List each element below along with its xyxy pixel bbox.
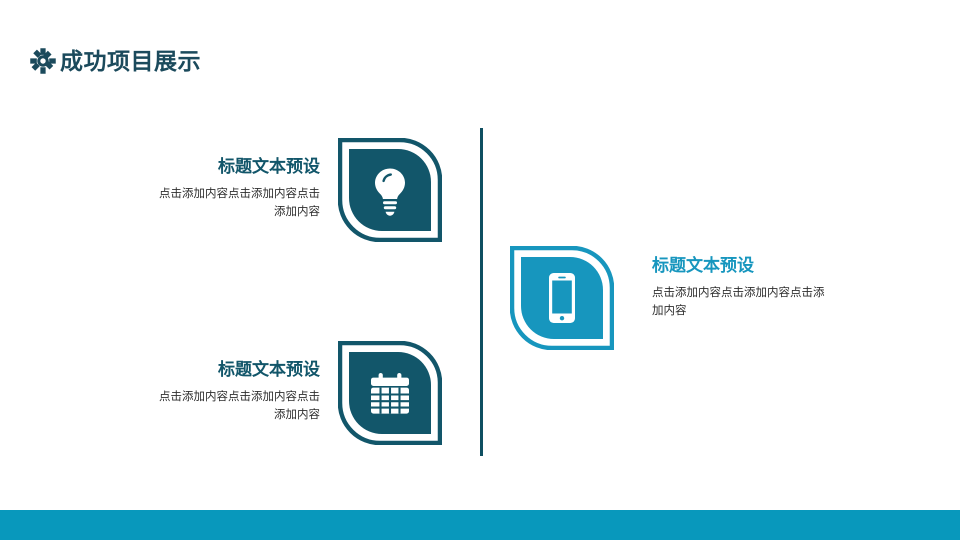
block-body: 点击添加内容点击添加内容点击添加内容: [150, 186, 320, 222]
block-title: 标题文本预设: [150, 360, 320, 380]
slide-canvas: 成功项目展示: [0, 0, 960, 540]
block-body: 点击添加内容点击添加内容点击添加内容: [652, 285, 832, 321]
block-title: 标题文本预设: [150, 157, 320, 177]
vertical-divider: [480, 128, 483, 456]
bottom-accent-bar: [0, 510, 960, 540]
leaf-badge-lightbulb[interactable]: [338, 138, 442, 242]
page-title: 成功项目展示: [60, 50, 201, 73]
block-title: 标题文本预设: [652, 256, 832, 276]
leaf-badge-smartphone[interactable]: [510, 246, 614, 350]
content-block-2: 标题文本预设 点击添加内容点击添加内容点击添加内容: [150, 360, 320, 425]
content-block-3: 标题文本预设 点击添加内容点击添加内容点击添加内容: [652, 256, 832, 321]
leaf-badge-calendar[interactable]: [338, 341, 442, 445]
smartphone-icon: [549, 273, 575, 323]
content-block-1: 标题文本预设 点击添加内容点击添加内容点击添加内容: [150, 157, 320, 222]
block-body: 点击添加内容点击添加内容点击添加内容: [150, 389, 320, 425]
gear-icon: [28, 46, 58, 76]
slide-header: 成功项目展示: [28, 46, 201, 76]
